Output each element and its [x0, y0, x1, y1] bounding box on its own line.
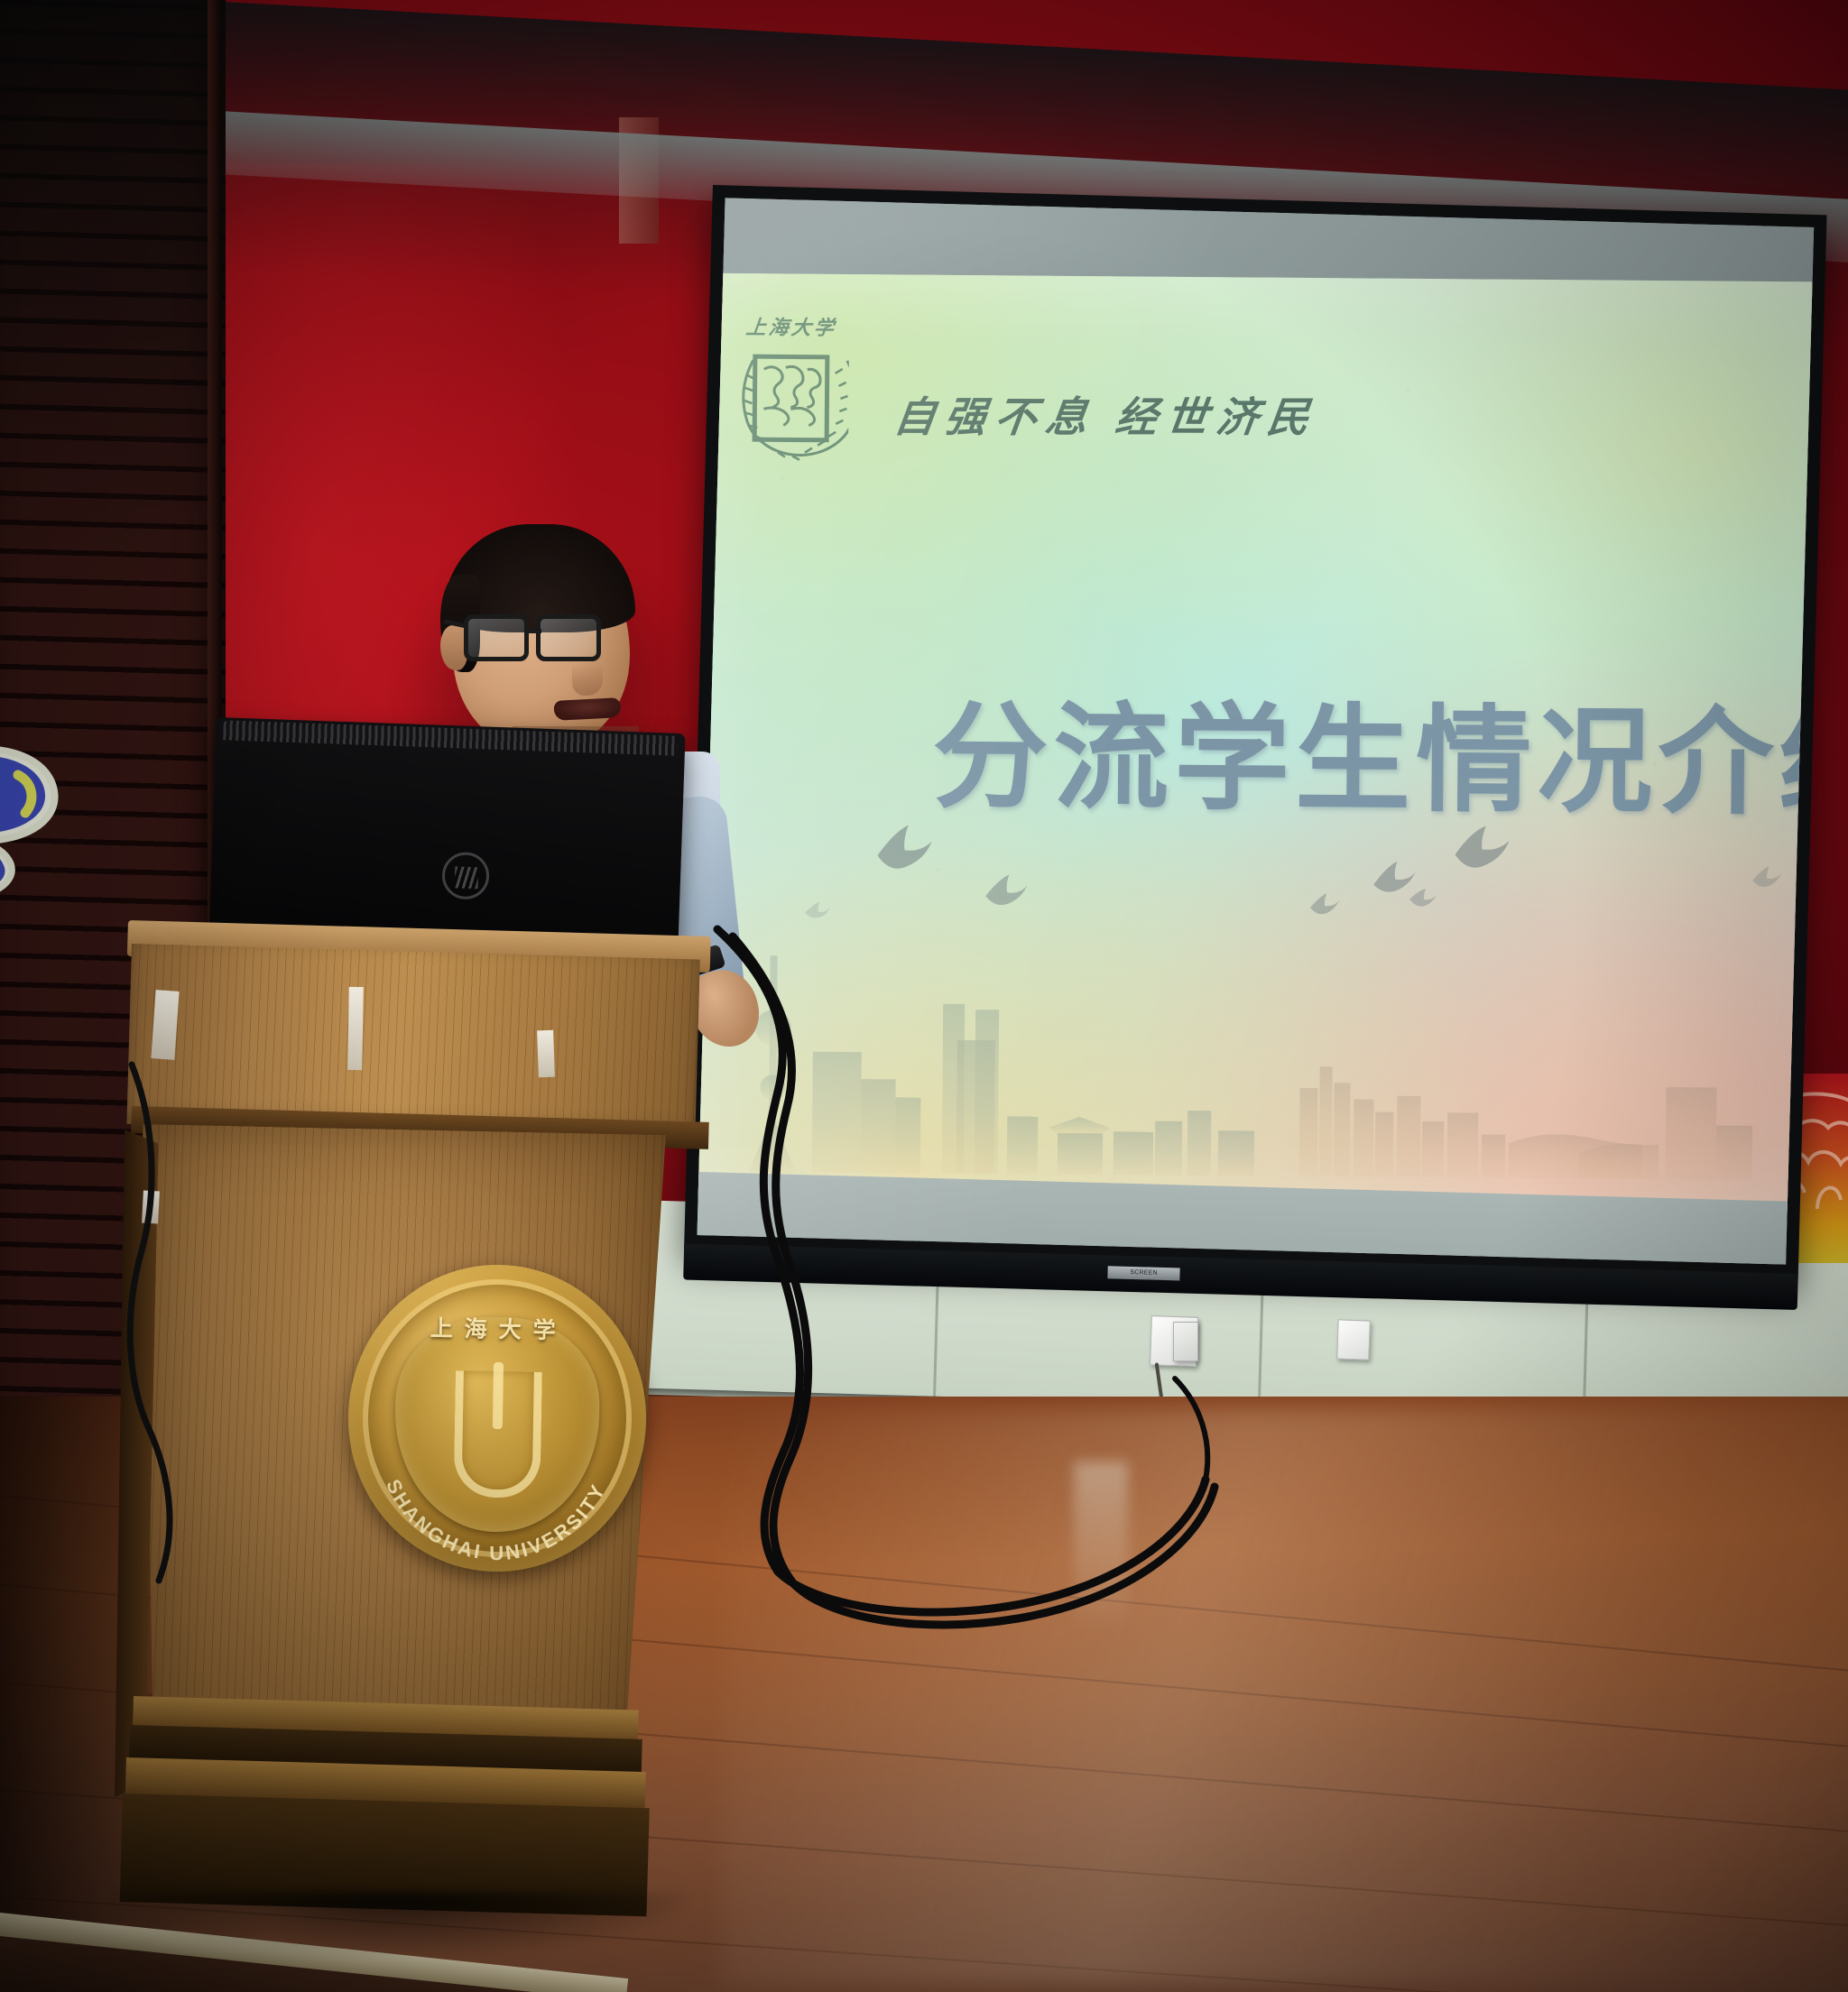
- podium-tape-mark: [537, 1030, 555, 1078]
- presenter-nose: [572, 663, 603, 696]
- blue-cartoon-mascot-icon: [0, 735, 92, 907]
- monitor-brand-logo-icon: [441, 852, 490, 900]
- podium-university-emblem: 上海大学 SHANGHAI UNIVERSITY: [346, 1262, 649, 1574]
- emblem-english-text: SHANGHAI UNIVERSITY: [381, 1476, 611, 1567]
- power-outlet-plug[interactable]: [1173, 1322, 1198, 1361]
- screen-surface: 上海大学: [698, 198, 1815, 1264]
- podium-tape-mark: [142, 1191, 160, 1224]
- wood-slat-wall-shadow: [0, 0, 226, 559]
- glasses-bridge: [527, 629, 541, 633]
- lecture-hall-scene: 上海大学: [0, 0, 1848, 1992]
- podium-tape-mark: [151, 990, 179, 1060]
- podium-floor-shadow: [108, 1893, 686, 1956]
- podium-tape-mark: [347, 987, 364, 1070]
- floor-sheen: [722, 1407, 1848, 1985]
- podium: 上海大学 SHANGHAI UNIVERSITY: [126, 920, 722, 1992]
- presenter-mouth: [553, 697, 621, 721]
- light-switch[interactable]: [1336, 1319, 1371, 1360]
- floor-reflection: [1074, 1462, 1128, 1633]
- glasses-icon: [536, 614, 601, 661]
- screen-brand-label: SCREEN: [1107, 1266, 1179, 1280]
- glasses-icon: [464, 614, 529, 661]
- projected-slide: 上海大学: [698, 273, 1815, 1212]
- svg-text:SHANGHAI UNIVERSITY: SHANGHAI UNIVERSITY: [381, 1476, 611, 1567]
- emblem-english-name: SHANGHAI UNIVERSITY: [346, 1262, 649, 1574]
- projection-screen[interactable]: 上海大学: [684, 185, 1826, 1279]
- slide-light-wash: [698, 273, 1815, 1212]
